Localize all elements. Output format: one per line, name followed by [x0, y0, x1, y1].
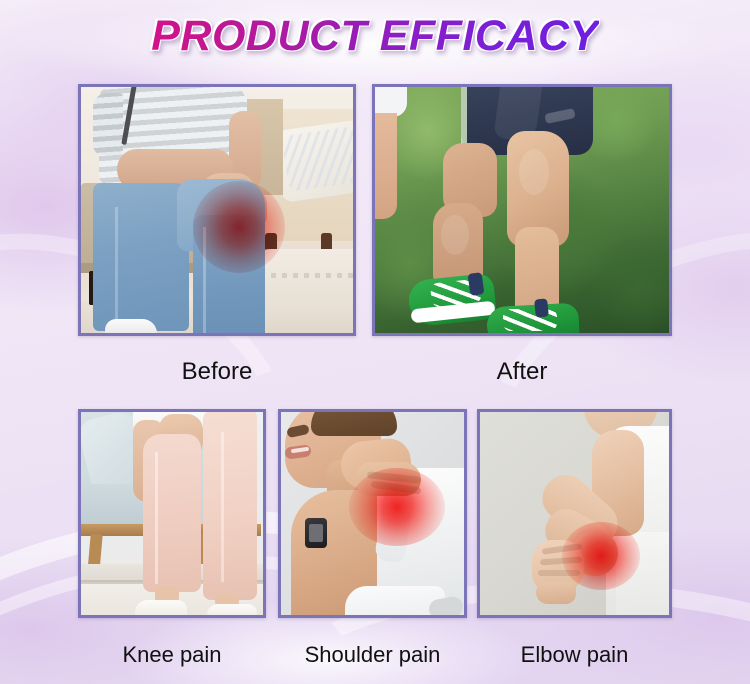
caption-elbow-pain: Elbow pain	[477, 644, 672, 666]
scene-shoulder-pain	[281, 412, 464, 615]
panel-knee-pain	[78, 409, 266, 618]
page-title-text: PRODUCT EFFICACY	[151, 12, 599, 61]
scene-knee-pain	[81, 412, 263, 615]
scene-before	[81, 87, 353, 333]
scene-after	[375, 87, 669, 333]
pain-glow-shoulder	[349, 468, 445, 546]
panel-after	[372, 84, 672, 336]
pain-glow-knee	[193, 181, 285, 273]
scene-elbow-pain	[480, 412, 669, 615]
caption-shoulder-pain: Shoulder pain	[278, 644, 467, 666]
caption-before: Before	[78, 360, 356, 384]
panel-elbow-pain	[477, 409, 672, 618]
panel-shoulder-pain	[278, 409, 467, 618]
pain-glow-elbow	[562, 522, 640, 590]
panel-before	[78, 84, 356, 336]
caption-after: After	[372, 360, 672, 384]
page-title: PRODUCT EFFICACY	[0, 12, 750, 61]
caption-knee-pain: Knee pain	[78, 644, 266, 666]
